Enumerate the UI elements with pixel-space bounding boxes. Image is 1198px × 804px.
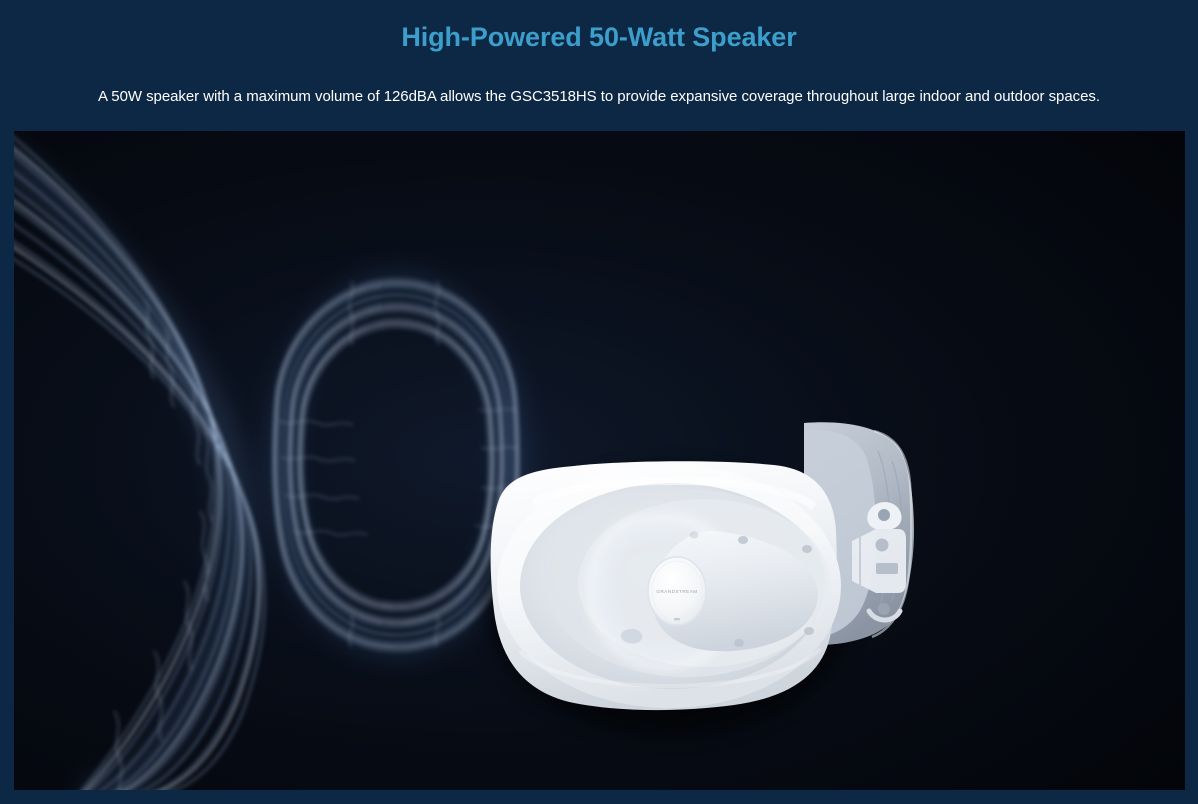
page-subtitle: A 50W speaker with a maximum volume of 1… (0, 88, 1198, 105)
page-title: High-Powered 50-Watt Speaker (0, 22, 1198, 53)
hero-image: GRANDSTREAM (14, 131, 1185, 790)
hero-illustration: GRANDSTREAM (14, 131, 1185, 790)
badge-text: GRANDSTREAM (656, 589, 697, 594)
product-feature-page: High-Powered 50-Watt Speaker A 50W speak… (0, 0, 1198, 804)
product-badge: GRANDSTREAM (648, 557, 706, 625)
